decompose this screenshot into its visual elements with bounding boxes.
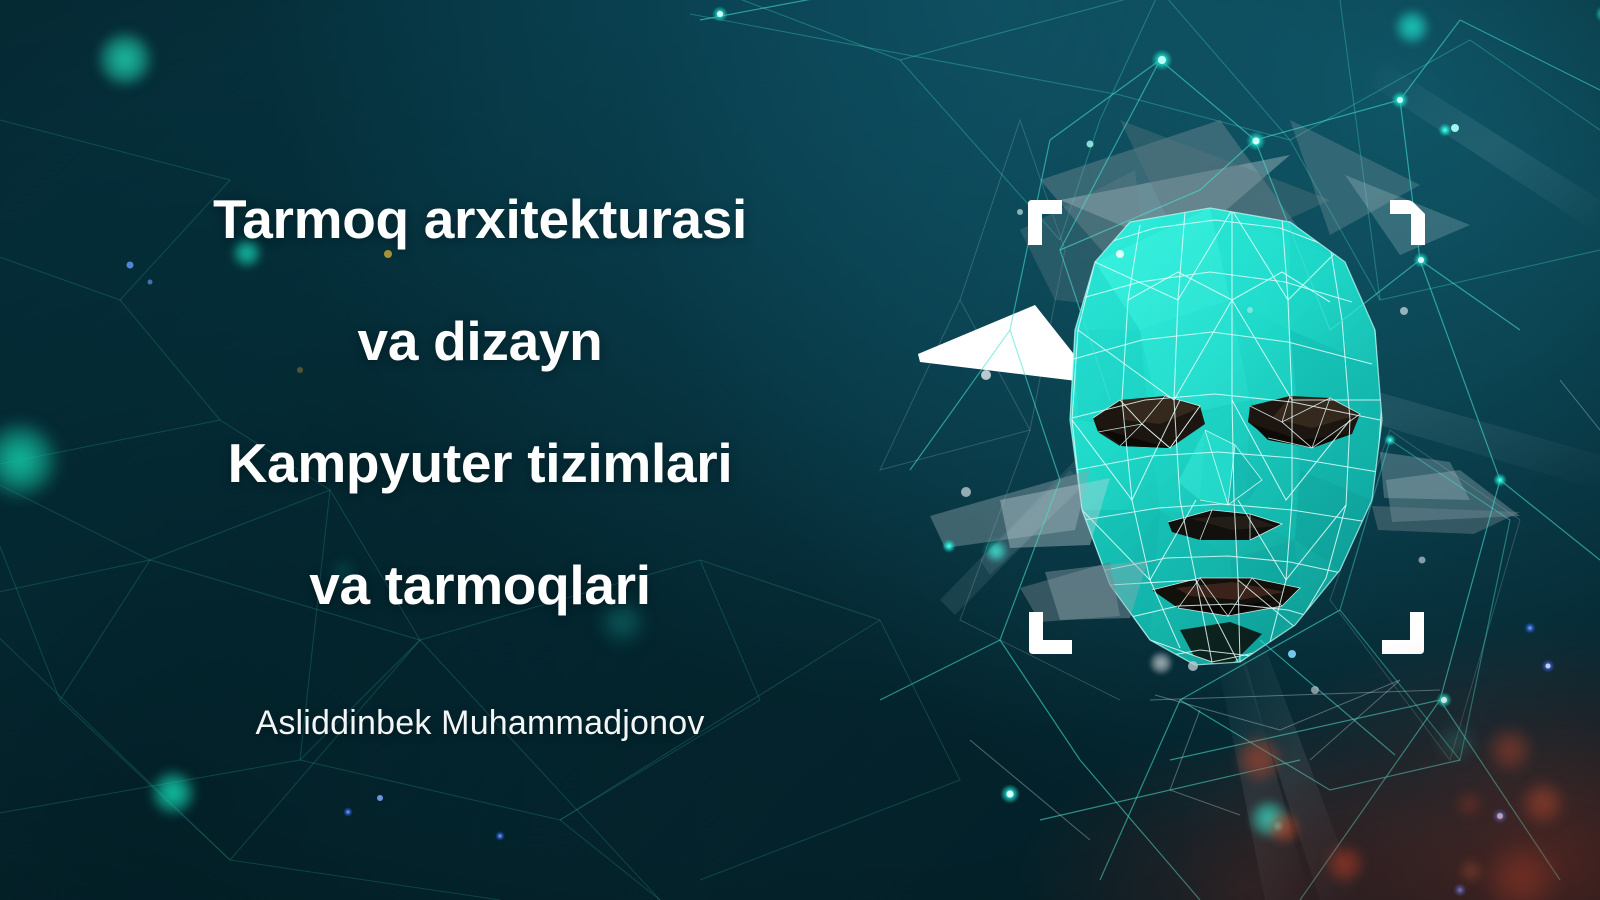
title-text-block: Tarmoq arxitekturasi va dizayn Kampyuter… bbox=[0, 0, 940, 900]
title-line-1: Tarmoq arxitekturasi bbox=[213, 188, 747, 250]
title-line-3: Kampyuter tizimlari bbox=[228, 432, 733, 494]
title-line-4: va tarmoqlari bbox=[309, 554, 651, 616]
title-slide: Tarmoq arxitekturasi va dizayn Kampyuter… bbox=[0, 0, 1600, 900]
title-line-2: va dizayn bbox=[358, 310, 603, 372]
author-name: Asliddinbek Muhammadjonov bbox=[255, 704, 704, 743]
slide-title: Tarmoq arxitekturasi va dizayn Kampyuter… bbox=[213, 158, 747, 646]
